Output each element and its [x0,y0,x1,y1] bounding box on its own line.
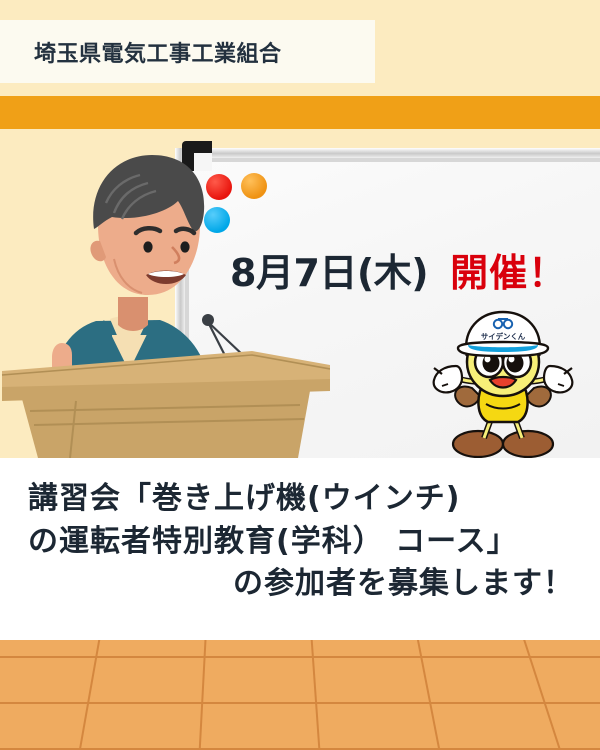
presenter-head [90,155,204,295]
presenter-neck [118,297,148,331]
top-cream-background: 埼玉県電気工事工業組合 [0,0,600,96]
headline-line-1: 講習会「巻き上げ機(ウインチ) [0,478,600,521]
floor-tiles [0,640,600,750]
mascot-left-glove [434,366,462,392]
mascot-left-wing [455,387,480,407]
headline-line-2: の運転者特別教育(学科） コース」 [0,521,600,564]
organization-band: 埼玉県電気工事工業組合 [0,20,375,83]
mascot-right-glove [544,366,572,392]
helmet-label: サイデンくん [481,332,526,341]
presenter-illustration [0,129,330,458]
headline-line-3: の参加者を募集します！ [0,563,600,606]
podium [2,351,330,458]
event-status-text: 開催！ [450,242,567,297]
headline-block: 講習会「巻き上げ機(ウインチ) の運転者特別教育(学科） コース」 の参加者を募… [0,458,600,640]
illustration-scene: 8月7日(木) 開催！ [0,129,600,458]
organization-name: 埼玉県電気工事工業組合 [34,36,282,68]
mascot-saiden-kun: サイデンくん [428,304,578,458]
mascot-right-wing [526,387,551,407]
mascot-helmet: サイデンくん [458,312,548,356]
mascot-left-foot [453,431,503,457]
poster-root: 埼玉県電気工事工業組合 8月7日(木) 開催！ [0,0,600,750]
accent-orange-bar [0,96,600,129]
mascot-right-foot [503,431,553,457]
